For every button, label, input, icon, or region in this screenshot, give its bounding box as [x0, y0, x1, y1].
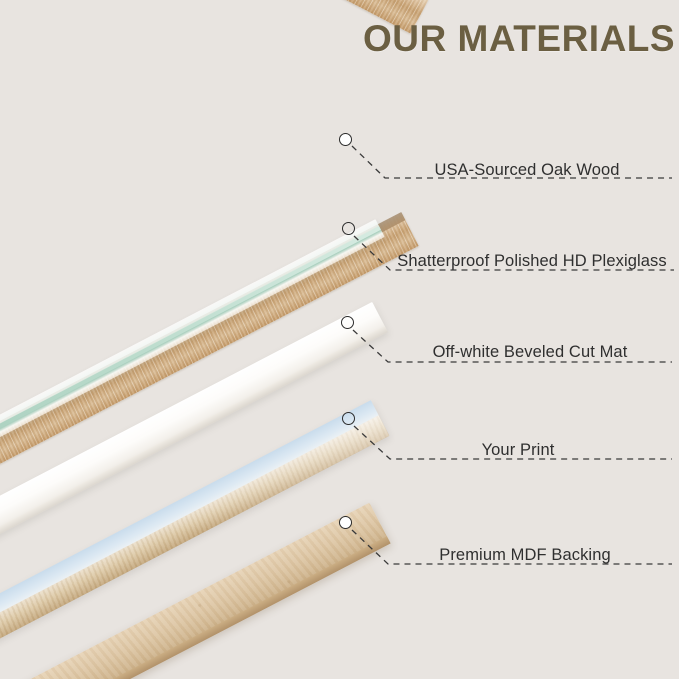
callout-label-mat: Off-white Beveled Cut Mat: [433, 343, 628, 362]
callout-label-oak-wood: USA-Sourced Oak Wood: [434, 161, 619, 180]
callout-marker-mdf-backing[interactable]: [339, 516, 352, 529]
page-title: OUR MATERIALS: [363, 20, 671, 59]
callout-marker-plexiglass[interactable]: [342, 222, 355, 235]
callout-label-print: Your Print: [482, 441, 555, 460]
infographic-canvas: OUR MATERIALS USA-Sourced Oak WoodShatte…: [0, 0, 679, 679]
rail-rabbet-groove: [0, 0, 416, 34]
callout-label-plexiglass: Shatterproof Polished HD Plexiglass: [397, 252, 666, 271]
callout-marker-mat[interactable]: [341, 316, 354, 329]
callout-label-mdf-backing: Premium MDF Backing: [439, 546, 611, 565]
callout-marker-print[interactable]: [342, 412, 355, 425]
callout-marker-oak-wood[interactable]: [339, 133, 352, 146]
